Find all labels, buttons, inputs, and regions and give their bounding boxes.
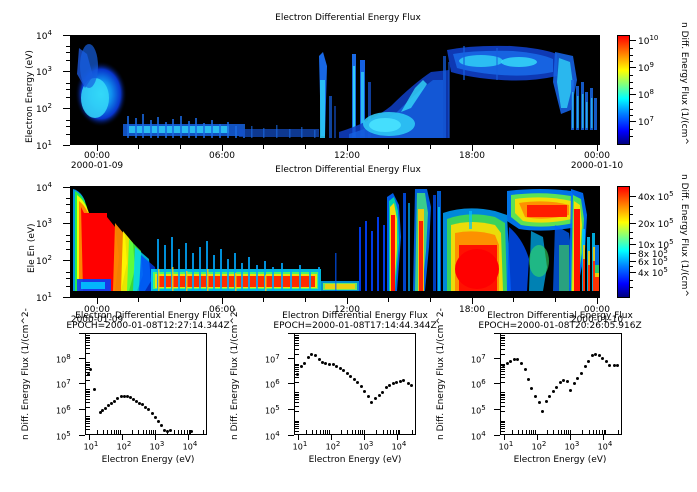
- minor-tick: [146, 430, 147, 434]
- minor-tick: [295, 337, 299, 338]
- data-point: [527, 378, 530, 381]
- data-point: [580, 372, 583, 375]
- minor-tick: [111, 430, 112, 434]
- minor-tick: [86, 340, 90, 341]
- minor-tick: [522, 430, 523, 434]
- data-point: [335, 365, 338, 368]
- minor-tick: [323, 430, 324, 434]
- minor-tick: [86, 421, 90, 422]
- data-point: [569, 389, 572, 392]
- minor-tick: [529, 430, 530, 434]
- top-panel-title: Electron Differential Energy Flux: [275, 14, 421, 23]
- mid-cbar-tick-5: 40x 105: [638, 191, 674, 203]
- mid-cbar-tick-4: 20x 105: [638, 218, 674, 230]
- minor-tick: [295, 426, 299, 427]
- minor-tick: [364, 430, 365, 434]
- top-spectrogram-plot: [70, 35, 600, 145]
- minor-tick: [501, 345, 505, 346]
- minor-tick: [295, 340, 299, 341]
- minor-tick: [312, 430, 313, 434]
- spectrum3-subtitle: EPOCH=2000-01-08T20:26:05.916Z: [478, 322, 641, 331]
- spectrum2-plot: [294, 333, 416, 435]
- minor-tick: [86, 345, 90, 346]
- data-point: [402, 379, 405, 382]
- minor-tick: [316, 430, 317, 434]
- sp1-xtick-2: 103: [150, 441, 165, 452]
- minor-tick: [383, 430, 384, 434]
- sp1-ytick-8: 108: [56, 354, 71, 365]
- data-point: [356, 381, 359, 384]
- data-point: [154, 416, 157, 419]
- data-point: [545, 400, 548, 403]
- minor-tick: [86, 407, 90, 408]
- minor-tick: [501, 394, 505, 395]
- minor-tick: [501, 343, 505, 344]
- data-point: [524, 368, 527, 371]
- minor-tick: [501, 392, 505, 393]
- sp2-ytick-7: 107: [265, 354, 280, 365]
- top-xdate-left: 2000-01-09: [71, 162, 123, 171]
- spectrum2-ylabel: n Diff. Energy Flux (1/(cm^2-: [231, 308, 240, 440]
- minor-tick: [501, 402, 505, 403]
- data-point: [370, 401, 373, 404]
- data-point: [594, 353, 597, 356]
- data-point: [509, 360, 512, 363]
- top-xtick-0: 00:00: [84, 152, 110, 161]
- minor-tick: [86, 367, 90, 368]
- sp2-ytick-6: 106: [265, 379, 280, 390]
- spectrum2-subtitle: EPOCH=2000-01-08T17:14:44.344Z: [273, 322, 436, 331]
- data-point: [566, 380, 569, 383]
- data-point: [616, 364, 619, 367]
- minor-tick: [151, 430, 152, 434]
- sp3-ytick-5: 105: [471, 405, 486, 416]
- data-point: [113, 400, 116, 403]
- sp3-ytick-6: 106: [471, 379, 486, 390]
- data-point: [300, 365, 303, 368]
- minor-tick: [295, 428, 299, 429]
- sp3-xtick-1: 102: [532, 441, 547, 452]
- data-point: [587, 360, 590, 363]
- mid-ytick-3: 103: [36, 218, 52, 230]
- top-xtick-4: 00:00: [584, 152, 610, 161]
- minor-tick: [295, 394, 299, 395]
- minor-tick: [86, 365, 90, 366]
- data-point: [346, 372, 349, 375]
- minor-tick: [512, 430, 513, 434]
- figure-canvas: Electron Differential Energy Flux: [0, 0, 697, 492]
- top-ytick-4: 104: [36, 30, 52, 42]
- minor-tick: [86, 416, 90, 417]
- sp2-xtick-1: 102: [326, 441, 341, 452]
- mid-ytick-2: 102: [36, 255, 52, 267]
- mid-ytick-4: 104: [36, 182, 52, 194]
- data-point: [151, 412, 154, 415]
- data-point: [410, 384, 413, 387]
- minor-tick: [86, 348, 90, 349]
- mid-cbar-tick-0: 4x 105: [638, 267, 668, 279]
- minor-tick: [387, 430, 388, 434]
- top-cbar-tick-2: 109: [638, 62, 654, 74]
- spectrum2-xlabel: Electron Energy (eV): [309, 456, 402, 465]
- minor-tick: [547, 430, 548, 434]
- top-ytick-3: 103: [36, 66, 52, 78]
- minor-tick: [86, 394, 90, 395]
- minor-tick: [360, 430, 361, 434]
- sp3-xtick-3: 104: [598, 441, 613, 452]
- minor-tick: [393, 430, 394, 434]
- data-point: [548, 395, 551, 398]
- top-xtick-2: 12:00: [334, 152, 360, 161]
- minor-tick: [566, 430, 567, 434]
- sp2-xtick-0: 101: [293, 441, 308, 452]
- spectrum1-ylabel: n Diff. Energy Flux (1/(cm^2-: [22, 308, 31, 440]
- sp3-ytick-4: 104: [471, 431, 486, 442]
- minor-tick: [501, 349, 505, 350]
- minor-tick: [203, 430, 204, 434]
- middle-colorbar: [617, 186, 630, 298]
- minor-tick: [295, 399, 299, 400]
- minor-tick: [295, 335, 299, 336]
- minor-tick: [86, 389, 90, 390]
- mid-ytick-1: 101: [36, 292, 52, 304]
- minor-tick: [295, 392, 299, 393]
- minor-tick: [86, 362, 90, 363]
- minor-tick: [86, 399, 90, 400]
- sp1-xtick-0: 101: [84, 441, 99, 452]
- data-point: [576, 377, 579, 380]
- minor-tick: [86, 380, 90, 381]
- minor-tick: [396, 430, 397, 434]
- sp2-xtick-3: 104: [392, 441, 407, 452]
- minor-tick: [174, 430, 175, 434]
- data-point: [381, 391, 384, 394]
- minor-tick: [86, 353, 90, 354]
- minor-tick: [341, 430, 342, 434]
- middle-panel-title: Electron Differential Energy Flux: [275, 166, 421, 175]
- top-colorbar-label: n Diff. Energy Flux (1/(cm^: [679, 22, 688, 145]
- minor-tick: [86, 335, 90, 336]
- minor-tick: [501, 395, 505, 396]
- spectrum1-title: Electron Differential Energy Flux: [75, 312, 221, 321]
- minor-tick: [501, 421, 505, 422]
- minor-tick: [501, 424, 505, 425]
- minor-tick: [390, 430, 391, 434]
- top-panel-ylabel: Electron Energy (eV): [26, 50, 35, 143]
- minor-tick: [501, 371, 505, 372]
- data-point: [360, 385, 363, 388]
- minor-tick: [86, 426, 90, 427]
- minor-tick: [295, 349, 299, 350]
- top-xdate-right: 2000-01-10: [571, 162, 623, 171]
- minor-tick: [143, 430, 144, 434]
- minor-tick: [501, 367, 505, 368]
- minor-tick: [86, 369, 90, 370]
- data-point: [555, 386, 558, 389]
- minor-tick: [295, 338, 299, 339]
- minor-tick: [295, 406, 299, 407]
- minor-tick: [295, 424, 299, 425]
- minor-tick: [86, 391, 90, 392]
- data-point: [363, 390, 366, 393]
- data-point: [314, 354, 317, 357]
- minor-tick: [531, 430, 532, 434]
- sp1-ytick-7: 107: [56, 379, 71, 390]
- data-point: [573, 382, 576, 385]
- spectrum1-plot: [85, 333, 207, 435]
- data-point: [562, 379, 565, 382]
- sp3-ytick-7: 107: [471, 354, 486, 365]
- minor-tick: [501, 397, 505, 398]
- minor-tick: [86, 342, 90, 343]
- top-ytick-1: 101: [36, 140, 52, 152]
- data-point: [147, 408, 150, 411]
- minor-tick: [501, 364, 505, 365]
- minor-tick: [558, 430, 559, 434]
- middle-panel-ylabel: Ele En (eV): [28, 223, 37, 273]
- minor-tick: [553, 430, 554, 434]
- minor-tick: [107, 430, 108, 434]
- data-point: [93, 388, 96, 391]
- data-point: [318, 358, 321, 361]
- sp2-ytick-4: 104: [265, 431, 280, 442]
- minor-tick: [570, 430, 571, 434]
- minor-tick: [295, 365, 299, 366]
- minor-tick: [295, 371, 299, 372]
- sp1-xtick-3: 104: [183, 441, 198, 452]
- minor-tick: [501, 406, 505, 407]
- minor-tick: [86, 392, 90, 393]
- sp3-xtick-2: 103: [565, 441, 580, 452]
- minor-tick: [355, 430, 356, 434]
- data-point: [584, 365, 587, 368]
- minor-tick: [295, 345, 299, 346]
- minor-tick: [295, 402, 299, 403]
- minor-tick: [86, 337, 90, 338]
- data-point: [328, 363, 331, 366]
- spectrum3-plot: [500, 333, 622, 435]
- data-point: [605, 360, 608, 363]
- data-point: [395, 381, 398, 384]
- minor-tick: [501, 426, 505, 427]
- minor-tick: [86, 372, 90, 373]
- data-point: [601, 357, 604, 360]
- minor-tick: [501, 374, 505, 375]
- data-point: [520, 362, 523, 365]
- data-point: [516, 358, 519, 361]
- minor-tick: [155, 430, 156, 434]
- data-point: [506, 362, 509, 365]
- minor-tick: [501, 338, 505, 339]
- minor-tick: [501, 335, 505, 336]
- minor-tick: [103, 430, 104, 434]
- sp3-xtick-0: 101: [499, 441, 514, 452]
- minor-tick: [181, 430, 182, 434]
- data-point: [349, 375, 352, 378]
- sp2-ytick-5: 105: [265, 405, 280, 416]
- data-point: [541, 410, 544, 413]
- minor-tick: [86, 375, 90, 376]
- minor-tick: [116, 430, 117, 434]
- data-point: [608, 364, 611, 367]
- minor-tick: [306, 430, 307, 434]
- top-cbar-tick-0: 107: [638, 116, 654, 128]
- minor-tick: [86, 423, 90, 424]
- sp1-ytick-6: 106: [56, 405, 71, 416]
- minor-tick: [518, 430, 519, 434]
- minor-tick: [295, 395, 299, 396]
- minor-tick: [347, 430, 348, 434]
- minor-tick: [526, 430, 527, 434]
- data-point: [530, 387, 533, 390]
- minor-tick: [86, 429, 90, 430]
- minor-tick: [295, 369, 299, 370]
- data-point: [160, 424, 163, 427]
- data-point: [116, 397, 119, 400]
- minor-tick: [295, 397, 299, 398]
- minor-tick: [295, 422, 299, 423]
- data-point: [342, 369, 345, 372]
- minor-tick: [295, 343, 299, 344]
- top-colorbar: [617, 35, 630, 145]
- minor-tick: [329, 430, 330, 434]
- top-cbar-tick-1: 108: [638, 89, 654, 101]
- sp1-xtick-1: 102: [117, 441, 132, 452]
- mid-xtick-3: 18:00: [459, 306, 485, 315]
- data-point: [310, 353, 313, 356]
- data-point: [388, 384, 391, 387]
- minor-tick: [501, 377, 505, 378]
- minor-tick: [564, 430, 565, 434]
- minor-tick: [295, 382, 299, 383]
- minor-tick: [86, 338, 90, 339]
- minor-tick: [501, 431, 505, 432]
- top-cbar-tick-3: 1010: [638, 35, 658, 47]
- minor-tick: [187, 430, 188, 434]
- top-xtick-1: 06:00: [209, 152, 235, 161]
- minor-tick: [501, 369, 505, 370]
- data-point: [374, 397, 377, 400]
- spectrum3-xlabel: Electron Energy (eV): [514, 456, 607, 465]
- top-ytick-2: 102: [36, 103, 52, 115]
- middle-spectrogram-image: [71, 187, 599, 297]
- data-point: [169, 429, 172, 432]
- minor-tick: [178, 430, 179, 434]
- spectrum1-subtitle: EPOCH=2000-01-08T12:27:14.344Z: [66, 322, 229, 331]
- top-spectrogram-image: [71, 36, 599, 144]
- minor-tick: [325, 430, 326, 434]
- sp2-xtick-2: 103: [359, 441, 374, 452]
- minor-tick: [352, 430, 353, 434]
- data-point: [598, 354, 601, 357]
- minor-tick: [295, 354, 299, 355]
- minor-tick: [501, 428, 505, 429]
- minor-tick: [86, 419, 90, 420]
- minor-tick: [412, 430, 413, 434]
- minor-tick: [295, 421, 299, 422]
- data-point: [378, 394, 381, 397]
- minor-tick: [605, 430, 606, 434]
- minor-tick: [190, 430, 191, 434]
- spectrum3-title: Electron Differential Energy Flux: [487, 312, 633, 321]
- data-point: [538, 401, 541, 404]
- data-point: [591, 354, 594, 357]
- data-point: [367, 395, 370, 398]
- minor-tick: [86, 364, 90, 365]
- minor-tick: [589, 430, 590, 434]
- minor-tick: [295, 411, 299, 412]
- minor-tick: [358, 430, 359, 434]
- minor-tick: [167, 430, 168, 434]
- top-xtick-3: 18:00: [459, 152, 485, 161]
- minor-tick: [501, 337, 505, 338]
- minor-tick: [561, 430, 562, 434]
- data-point: [552, 390, 555, 393]
- data-point: [324, 362, 327, 365]
- data-point: [303, 362, 306, 365]
- minor-tick: [86, 418, 90, 419]
- minor-tick: [535, 430, 536, 434]
- minor-tick: [501, 399, 505, 400]
- minor-tick: [582, 430, 583, 434]
- minor-tick: [120, 430, 121, 434]
- minor-tick: [184, 430, 185, 434]
- data-point: [104, 407, 107, 410]
- minor-tick: [599, 430, 600, 434]
- minor-tick: [295, 374, 299, 375]
- data-point: [392, 382, 395, 385]
- minor-tick: [86, 402, 90, 403]
- spectrum3-ylabel: n Diff. Energy Flux (1/(cm^2-: [437, 308, 446, 440]
- data-point: [385, 386, 388, 389]
- spectrum1-xlabel: Electron Energy (eV): [102, 456, 195, 465]
- sp1-ytick-5: 105: [56, 431, 71, 442]
- data-point: [307, 356, 310, 359]
- minor-tick: [501, 354, 505, 355]
- minor-tick: [501, 340, 505, 341]
- minor-tick: [132, 430, 133, 434]
- minor-tick: [501, 422, 505, 423]
- minor-tick: [618, 430, 619, 434]
- middle-spectrogram-plot: [70, 186, 600, 298]
- minor-tick: [376, 430, 377, 434]
- minor-tick: [86, 396, 90, 397]
- minor-tick: [97, 430, 98, 434]
- data-point: [157, 420, 160, 423]
- minor-tick: [295, 367, 299, 368]
- middle-colorbar-label: n Diff. Energy Flux (1/(cm^: [679, 174, 688, 297]
- minor-tick: [295, 364, 299, 365]
- minor-tick: [501, 365, 505, 366]
- minor-tick: [593, 430, 594, 434]
- minor-tick: [295, 431, 299, 432]
- minor-tick: [501, 382, 505, 383]
- minor-tick: [501, 411, 505, 412]
- minor-tick: [320, 430, 321, 434]
- minor-tick: [596, 430, 597, 434]
- spectrum2-title: Electron Differential Energy Flux: [282, 312, 428, 321]
- minor-tick: [399, 430, 400, 434]
- minor-tick: [602, 430, 603, 434]
- minor-tick: [138, 430, 139, 434]
- minor-tick: [114, 430, 115, 434]
- minor-tick: [149, 430, 150, 434]
- data-point: [534, 395, 537, 398]
- minor-tick: [295, 377, 299, 378]
